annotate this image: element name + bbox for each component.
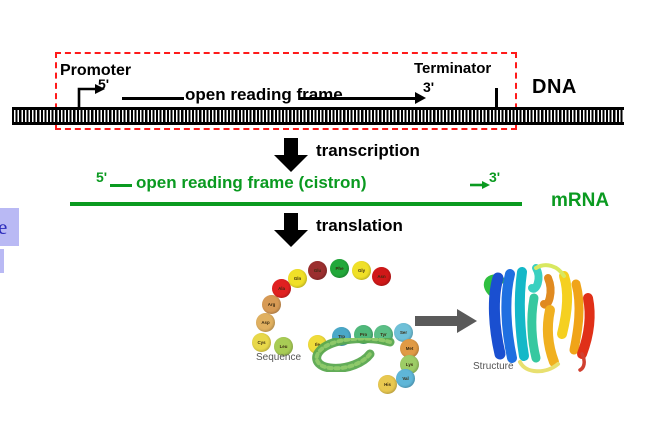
- translation-label: translation: [316, 216, 403, 236]
- mrna-three-prime-label: 3': [489, 169, 500, 185]
- terminator-tick-mark: [495, 88, 498, 108]
- dna-three-prime-label: 3': [423, 79, 434, 95]
- amino-acid-bead: Asp: [256, 313, 275, 332]
- edge-fragment-box-lower: [0, 249, 4, 273]
- sequence-caption: Sequence: [256, 352, 301, 363]
- edge-fragment-letter: e: [0, 209, 7, 245]
- translation-down-arrow-icon: [271, 213, 311, 247]
- amino-acid-bead: Arg: [262, 295, 281, 314]
- amino-acid-bead: Val: [396, 369, 415, 388]
- dna-base-pair-rungs: [12, 110, 624, 122]
- mrna-strand-line: [70, 202, 522, 206]
- mrna-molecule-label: mRNA: [551, 190, 609, 212]
- structure-caption: Structure: [473, 361, 514, 372]
- orf-line-left-segment: [122, 97, 184, 100]
- protein-structure-ribbon-illustration: [470, 258, 606, 376]
- amino-acid-bead: Asn: [372, 267, 391, 286]
- amino-acid-bead: Phe: [330, 259, 349, 278]
- mrna-orf-label: open reading frame (cistron): [136, 173, 366, 193]
- dna-orf-label: open reading frame: [185, 85, 343, 105]
- amino-acid-bead: Glu: [308, 261, 327, 280]
- terminator-label: Terminator: [414, 60, 491, 77]
- transcription-down-arrow-icon: [271, 138, 311, 172]
- dna-five-prime-label: 5': [98, 76, 109, 92]
- dna-rail-bottom: [12, 122, 624, 126]
- amino-acid-bead: Cys: [252, 333, 271, 352]
- mrna-leader-dash: [110, 184, 132, 187]
- mrna-direction-arrow-icon: [470, 180, 490, 190]
- mrna-five-prime-label: 5': [96, 169, 107, 185]
- amino-acid-bead: His: [378, 375, 397, 394]
- dna-molecule-label: DNA: [532, 76, 577, 99]
- promoter-label: Promoter: [60, 62, 131, 80]
- orf-line-right-segment: [300, 97, 420, 100]
- polypeptide-green-coil-icon: [310, 338, 396, 372]
- amino-acid-bead: Gln: [288, 269, 307, 288]
- dna-double-strand: [12, 107, 624, 125]
- transcription-label: transcription: [316, 141, 420, 161]
- amino-acid-bead: Gly: [352, 261, 371, 280]
- sequence-to-structure-arrow-icon: [415, 308, 477, 334]
